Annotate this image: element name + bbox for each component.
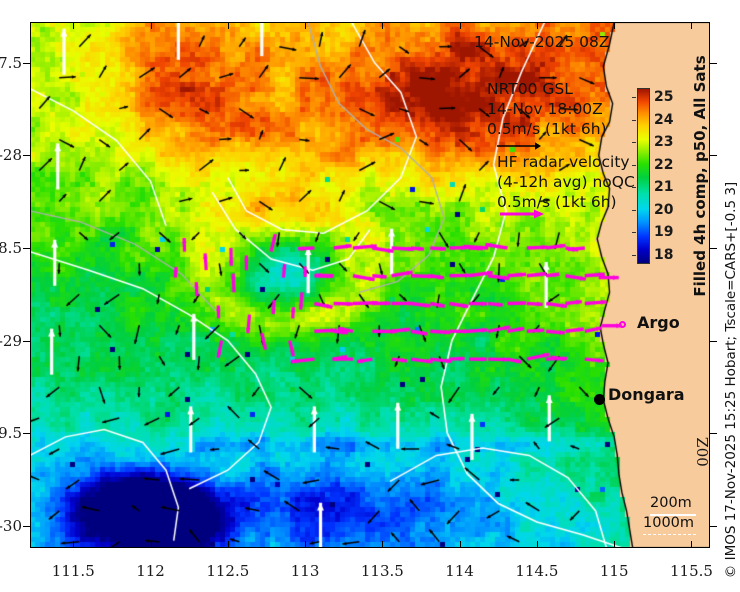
x-tick [691,22,692,29]
depth-legend-1000m-label: 1000m [643,515,694,531]
x-tick [305,541,306,548]
x-tick [537,541,538,548]
x-tick [614,22,615,29]
x-tick [460,541,461,548]
y-tick-label: -30 [0,517,22,535]
colorbar-tick-label: 21 [654,179,673,195]
velocity-vector-layer [30,22,710,548]
depth-legend-200m-label: 200m [650,495,692,511]
nrt-legend-line2: 14-Nov 18:00Z [487,100,603,118]
nrt-legend-line1: NRT00 GSL [487,80,573,98]
colorbar-tick-label: 19 [654,224,673,240]
y-tick-label: -29.5 [0,424,22,442]
y-tick [23,526,30,527]
figure-canvas: 14-Nov-2025 08Z NRT00 GSL 14-Nov 18:00Z … [0,0,740,592]
y-tick [710,63,717,64]
x-tick [691,541,692,548]
colorbar-tick-label: 22 [654,157,673,173]
colorbar-tick [632,210,636,211]
colorbar-tick-label: 24 [654,112,673,128]
y-tick [23,63,30,64]
y-tick [710,155,717,156]
argo-marker-icon [619,321,626,328]
copyright-credit: © IMOS 17-Nov-2025 15:25 Hobart; Tscale=… [723,182,739,578]
x-tick [382,541,383,548]
y-tick [23,155,30,156]
y-tick [710,526,717,527]
x-tick [228,22,229,29]
y-tick-label: -27.5 [0,54,22,72]
colorbar-tick-label: 23 [654,134,673,150]
right-axis-label: 00Z [694,437,712,467]
sst-map-plot[interactable] [30,22,710,548]
colorbar-tick [632,232,636,233]
colorbar-title: Filled 4h comp, p50, All Sats [691,55,709,296]
x-tick [305,22,306,29]
colorbar-tick [632,187,636,188]
hf-legend-line2: (4-12h avg) noQC [497,173,635,191]
x-tick-label: 112 [136,562,165,580]
x-tick [228,541,229,548]
x-tick [151,541,152,548]
depth-legend-1000m-line [643,534,696,535]
y-tick-label: -28.5 [0,239,22,257]
x-tick [73,541,74,548]
nrt-reference-arrow-icon [497,140,541,150]
hf-reference-arrow-icon [500,209,544,219]
x-tick [460,22,461,29]
date-stamp: 14-Nov-2025 08Z [474,33,609,51]
hf-legend-line1: HF radar velocity [497,153,630,171]
argo-legend-label: Argo [637,313,680,332]
dongara-city-marker-icon [594,394,605,405]
colorbar-gradient [637,88,650,264]
colorbar-tick-label: 18 [654,247,673,263]
y-tick [23,433,30,434]
x-tick-label: 113 [291,562,320,580]
x-tick [151,22,152,29]
dongara-city-label: Dongara [608,385,685,404]
x-tick-label: 115 [600,562,629,580]
colorbar-tick [632,255,636,256]
x-tick [614,541,615,548]
y-tick [710,248,717,249]
x-tick-label: 115.5 [670,562,713,580]
y-tick-label: -29 [0,332,22,350]
colorbar-tick [632,120,636,121]
x-tick-label: 114 [445,562,474,580]
x-tick-label: 114.5 [515,562,558,580]
nrt-legend-line3: 0.5m/s (1kt 6h) [487,120,607,138]
colorbar-tick-label: 25 [654,89,673,105]
x-tick-label: 112.5 [206,562,249,580]
colorbar-tick [632,142,636,143]
colorbar-tick-label: 20 [654,202,673,218]
x-tick [382,22,383,29]
x-tick-label: 111.5 [52,562,95,580]
colorbar-tick [632,97,636,98]
y-tick-label: -28 [0,146,22,164]
y-tick [710,433,717,434]
y-tick [710,341,717,342]
y-tick [23,341,30,342]
colorbar-tick [632,165,636,166]
x-tick [73,22,74,29]
x-tick [537,22,538,29]
x-tick-label: 113.5 [361,562,404,580]
y-tick [23,248,30,249]
